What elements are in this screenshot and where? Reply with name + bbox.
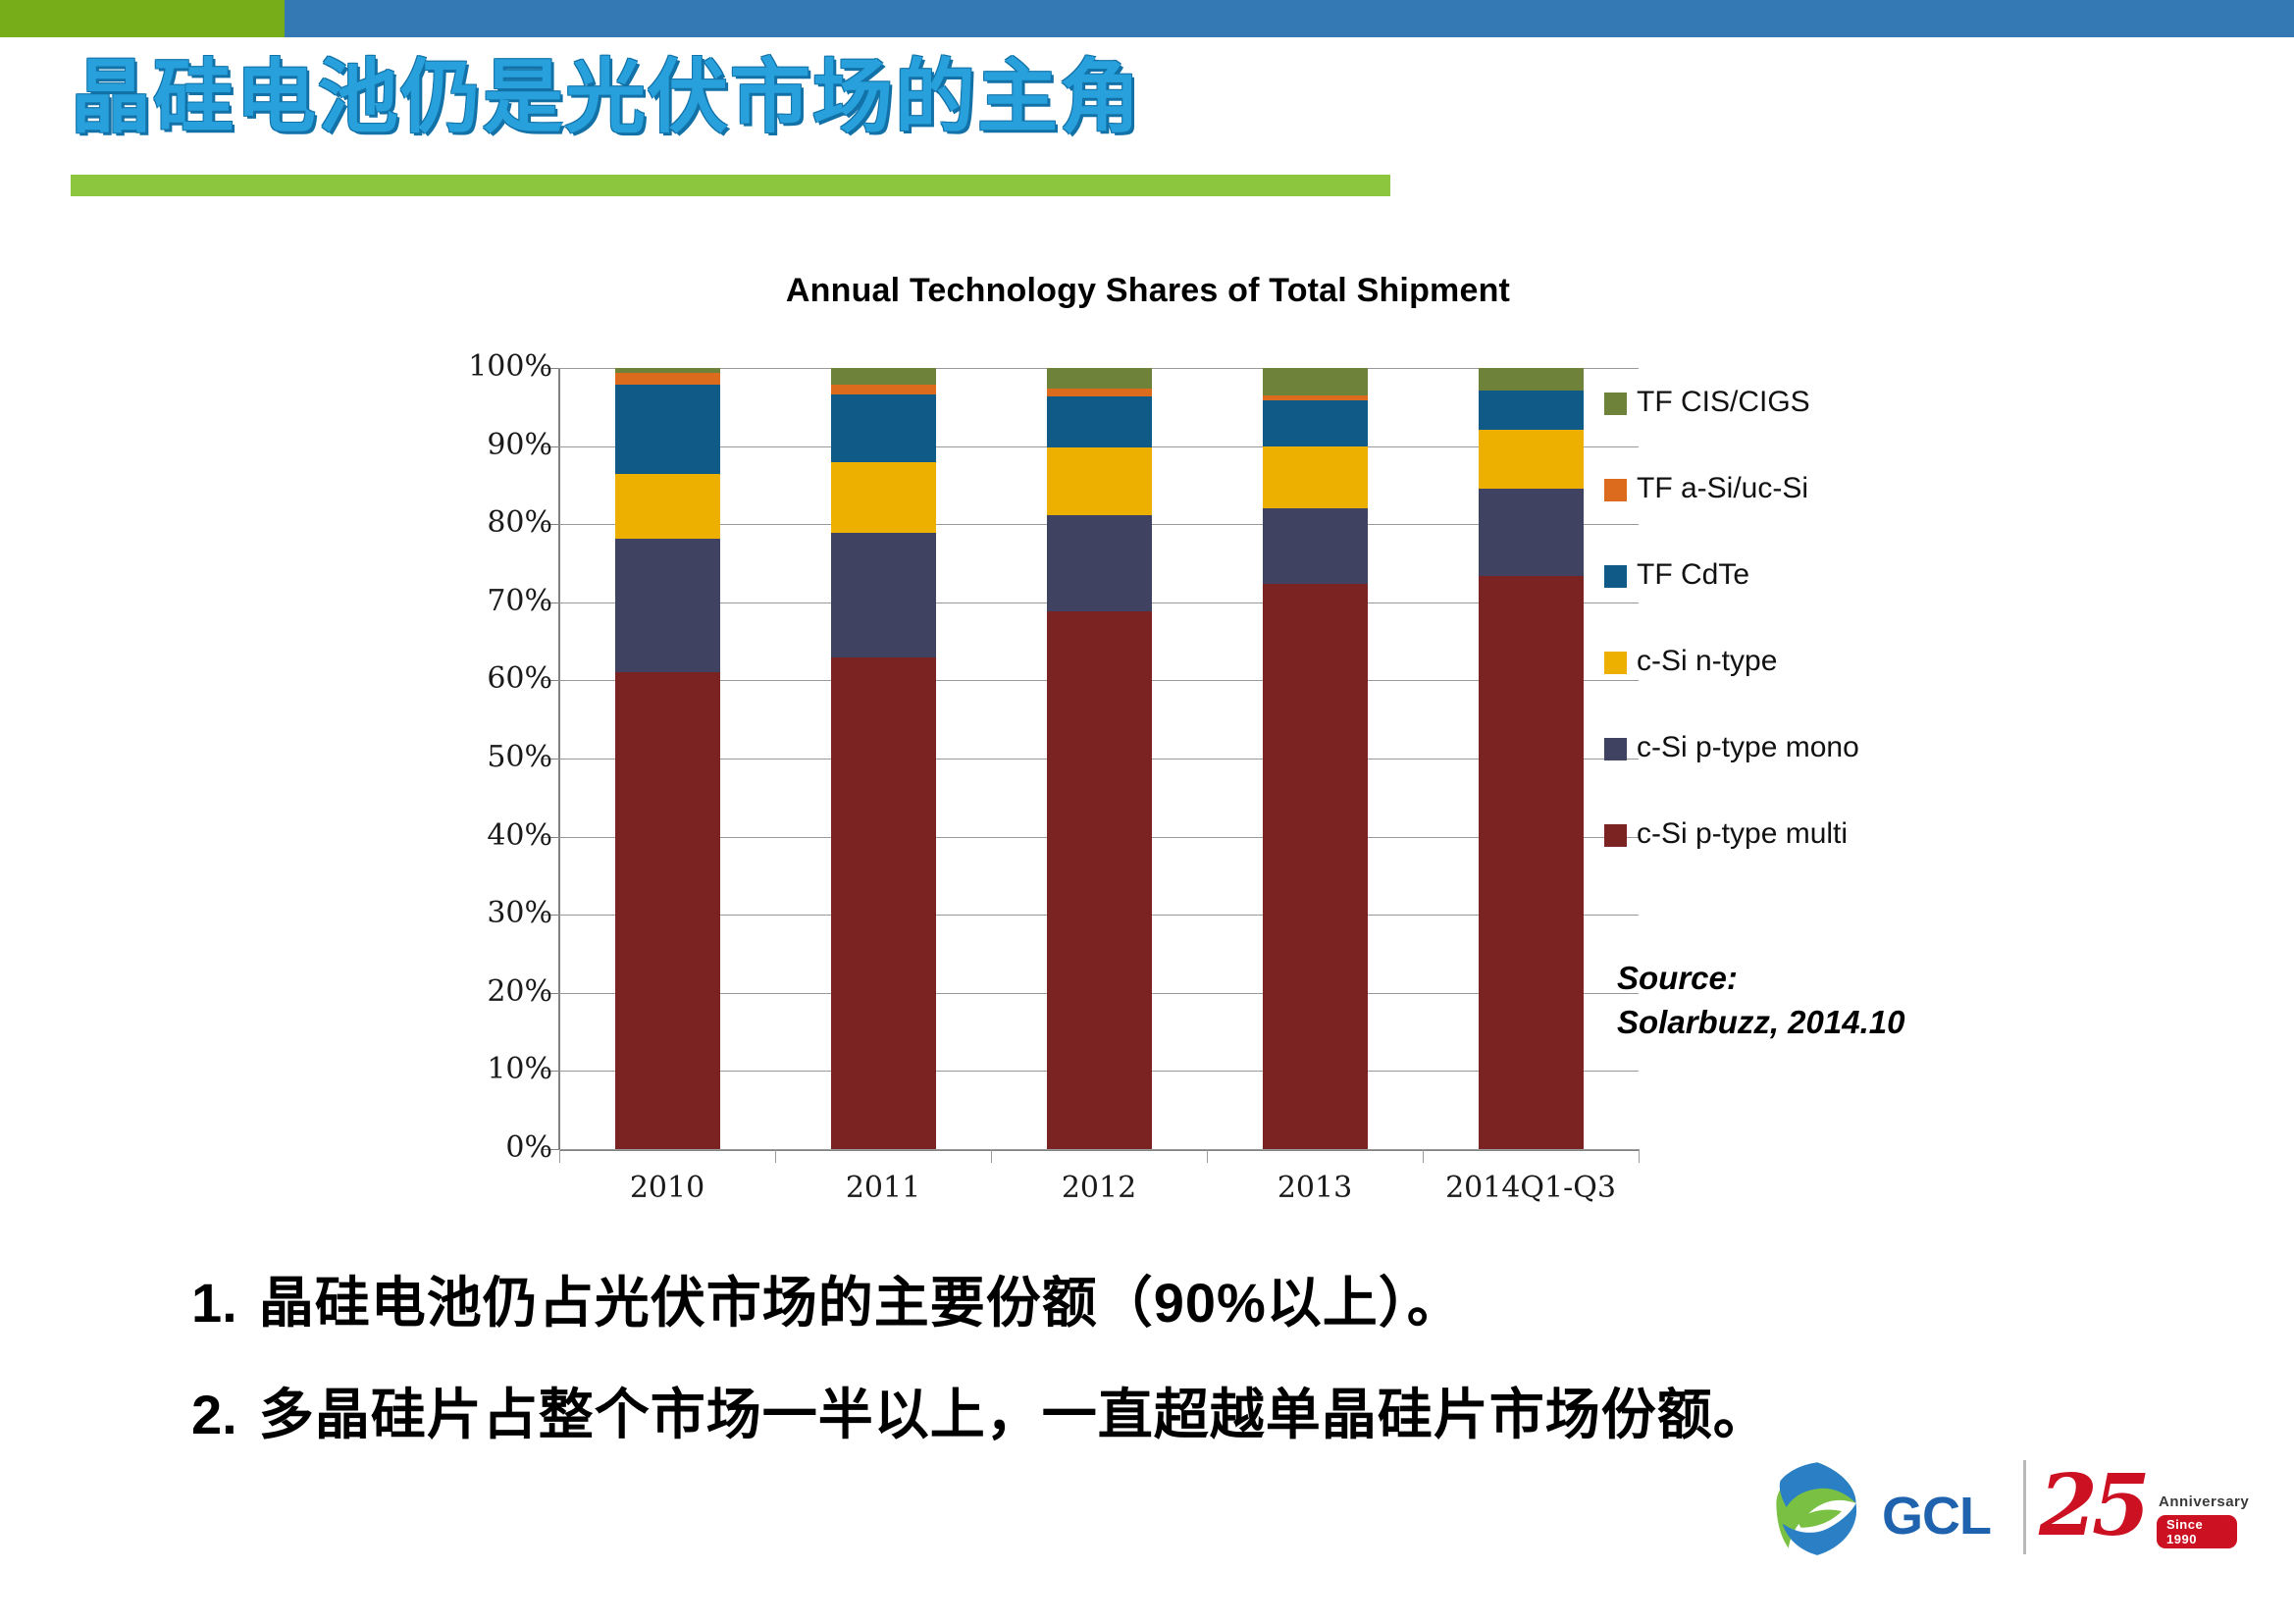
- legend-swatch-icon: [1604, 393, 1627, 415]
- legend-swatch-icon: [1604, 824, 1627, 847]
- stacked-bar: [1047, 368, 1152, 1149]
- bar-segment: [831, 462, 936, 533]
- legend-swatch-icon: [1604, 479, 1627, 501]
- legend-label: TF a-Si/uc-Si: [1637, 474, 1808, 503]
- bullet-number: 2.: [191, 1388, 237, 1442]
- y-axis-label: 80%: [405, 505, 552, 540]
- x-axis-tick: [1639, 1149, 1640, 1163]
- y-axis-label: 0%: [405, 1130, 552, 1165]
- bar-segment: [1263, 584, 1368, 1149]
- stacked-bar: [831, 368, 936, 1149]
- bar-segment: [615, 539, 720, 672]
- anniversary-number: 25: [2039, 1456, 2145, 1555]
- bar-segment: [1263, 400, 1368, 445]
- x-axis-label: 2010: [559, 1171, 775, 1205]
- x-axis-tick: [559, 1149, 560, 1163]
- bar-segment: [1047, 447, 1152, 515]
- bar-segment: [1263, 446, 1368, 508]
- stacked-bar: [1479, 368, 1584, 1149]
- y-axis-label: 60%: [405, 661, 552, 696]
- bar-segment: [1047, 515, 1152, 611]
- x-axis-label: 2012: [991, 1171, 1207, 1205]
- bar-segment: [1479, 430, 1584, 489]
- anniversary-label: Anniversary: [2159, 1493, 2249, 1510]
- bar-segment: [1479, 391, 1584, 430]
- legend-item[interactable]: TF a-Si/uc-Si: [1604, 474, 1997, 560]
- bar-segment: [615, 373, 720, 385]
- source-value: Solarbuzz, 2014.10: [1617, 1001, 1904, 1045]
- title-underline-rule: [71, 175, 1390, 196]
- y-axis-label: 50%: [405, 740, 552, 774]
- x-axis-tick: [991, 1149, 992, 1163]
- bar-segment: [1263, 508, 1368, 584]
- bar-segment: [831, 394, 936, 461]
- logo-divider: [2023, 1460, 2026, 1554]
- legend-swatch-icon: [1604, 738, 1627, 760]
- bar-segment: [831, 657, 936, 1149]
- since-badge: Since 1990: [2157, 1515, 2237, 1548]
- page-title: 晶硅电池仍是光伏市场的主角: [71, 56, 1142, 140]
- bar-segment: [1047, 611, 1152, 1149]
- bar-segment: [1479, 368, 1584, 391]
- legend-item[interactable]: TF CIS/CIGS: [1604, 388, 1997, 474]
- top-banner-green-block: [0, 0, 285, 37]
- bar-segment: [831, 385, 936, 394]
- y-axis-label: 70%: [405, 584, 552, 618]
- stacked-bar: [1263, 368, 1368, 1149]
- source-note: Source: Solarbuzz, 2014.10: [1617, 957, 1904, 1044]
- bullet-text: 多晶硅片占整个市场一半以上，一直超越单晶硅片市场份额。: [259, 1388, 2154, 1442]
- legend-item[interactable]: c-Si p-type multi: [1604, 819, 1997, 906]
- chart-legend: TF CIS/CIGSTF a-Si/uc-SiTF CdTec-Si n-ty…: [1604, 388, 1997, 906]
- bar-segment: [831, 533, 936, 657]
- x-axis-label: 2013: [1207, 1171, 1423, 1205]
- bullet-text: 晶硅电池仍占光伏市场的主要份额（90%以上）。: [259, 1276, 2154, 1331]
- list-item: 1.晶硅电池仍占光伏市场的主要份额（90%以上）。: [191, 1276, 2154, 1331]
- bar-segment: [1479, 489, 1584, 575]
- legend-label: c-Si p-type mono: [1637, 733, 1859, 762]
- legend-swatch-icon: [1604, 652, 1627, 674]
- legend-label: TF CdTe: [1637, 560, 1749, 590]
- legend-label: TF CIS/CIGS: [1637, 388, 1810, 417]
- bar-segment: [1479, 576, 1584, 1149]
- stacked-bar: [615, 368, 720, 1149]
- x-axis-tick: [1207, 1149, 1208, 1163]
- bar-segment: [1047, 396, 1152, 448]
- legend-label: c-Si p-type multi: [1637, 819, 1848, 849]
- legend-item[interactable]: c-Si n-type: [1604, 647, 1997, 733]
- legend-item[interactable]: TF CdTe: [1604, 560, 1997, 647]
- x-axis-label: 2011: [775, 1171, 991, 1205]
- y-axis-label: 20%: [405, 974, 552, 1009]
- gridline: [559, 1149, 1639, 1150]
- bar-segment: [615, 385, 720, 475]
- bar-segment: [831, 368, 936, 385]
- bullet-number: 1.: [191, 1276, 237, 1331]
- top-banner: [0, 0, 2294, 37]
- bullet-list: 1.晶硅电池仍占光伏市场的主要份额（90%以上）。2.多晶硅片占整个市场一半以上…: [191, 1276, 2154, 1442]
- x-axis-tick: [1423, 1149, 1424, 1163]
- x-axis-tick: [775, 1149, 776, 1163]
- chart-title: Annual Technology Shares of Total Shipme…: [608, 272, 1688, 310]
- y-axis-label: 100%: [405, 349, 552, 384]
- legend-label: c-Si n-type: [1637, 647, 1777, 676]
- y-axis-label: 10%: [405, 1052, 552, 1086]
- legend-item[interactable]: c-Si p-type mono: [1604, 733, 1997, 819]
- y-axis-label: 30%: [405, 896, 552, 930]
- legend-swatch-icon: [1604, 565, 1627, 588]
- bar-segment: [1047, 368, 1152, 389]
- top-banner-blue-block: [285, 0, 2294, 37]
- y-axis-label: 40%: [405, 818, 552, 853]
- globe-icon: [1766, 1456, 1868, 1558]
- list-item: 2.多晶硅片占整个市场一半以上，一直超越单晶硅片市场份额。: [191, 1388, 2154, 1442]
- chart-plot-area: 100%90%80%70%60%50%40%30%20%10%0% 201020…: [559, 368, 1639, 1149]
- gcl-logo: GCL 25 Anniversary Since 1990: [1766, 1450, 2237, 1568]
- gcl-wordmark: GCL: [1882, 1486, 1991, 1546]
- bar-segment: [1263, 368, 1368, 395]
- bar-segment: [1047, 389, 1152, 396]
- bar-segment: [615, 672, 720, 1149]
- source-label: Source:: [1617, 957, 1904, 1001]
- y-axis-label: 90%: [405, 428, 552, 462]
- x-axis-label: 2014Q1-Q3: [1423, 1171, 1639, 1205]
- bar-segment: [615, 474, 720, 538]
